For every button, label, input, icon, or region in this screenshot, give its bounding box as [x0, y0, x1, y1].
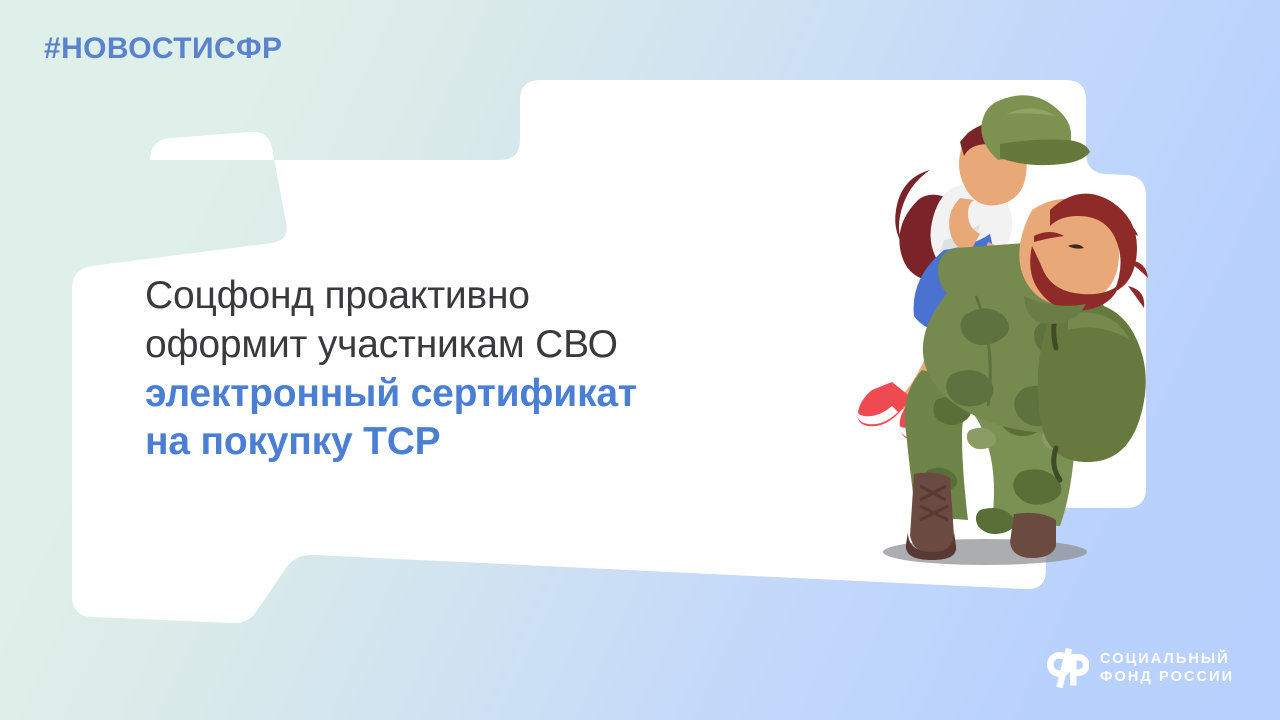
logo-wordmark: СОЦИАЛЬНЫЙ ФОНД РОССИИ: [1100, 652, 1234, 684]
sfr-logo: СОЦИАЛЬНЫЙ ФОНД РОССИИ: [1043, 648, 1234, 688]
headline-line-3: электронный сертификат: [145, 370, 885, 419]
logo-line-1: СОЦИАЛЬНЫЙ: [1100, 652, 1234, 667]
soldier-hair-tuft-3: [1128, 286, 1144, 308]
headline-line-2: оформит участникам СВО: [145, 321, 885, 370]
cap-brim: [1000, 140, 1090, 166]
soldier-lifting-girl-illustration: [810, 70, 1190, 580]
soldier-boot-front: [1010, 513, 1056, 558]
hashtag-label: #НОВОСТИСФР: [44, 32, 282, 66]
logo-line-2: ФОНД РОССИИ: [1100, 670, 1234, 685]
sfr-monogram-icon: [1043, 648, 1089, 688]
poster-canvas: #НОВОСТИСФР Соцфонд проактивно оформит у…: [0, 0, 1280, 720]
page-title: Соцфонд проактивно оформит участникам СВ…: [145, 272, 885, 467]
headline-line-1: Соцфонд проактивно: [145, 272, 885, 321]
headline-line-4: на покупку ТСР: [145, 418, 885, 467]
